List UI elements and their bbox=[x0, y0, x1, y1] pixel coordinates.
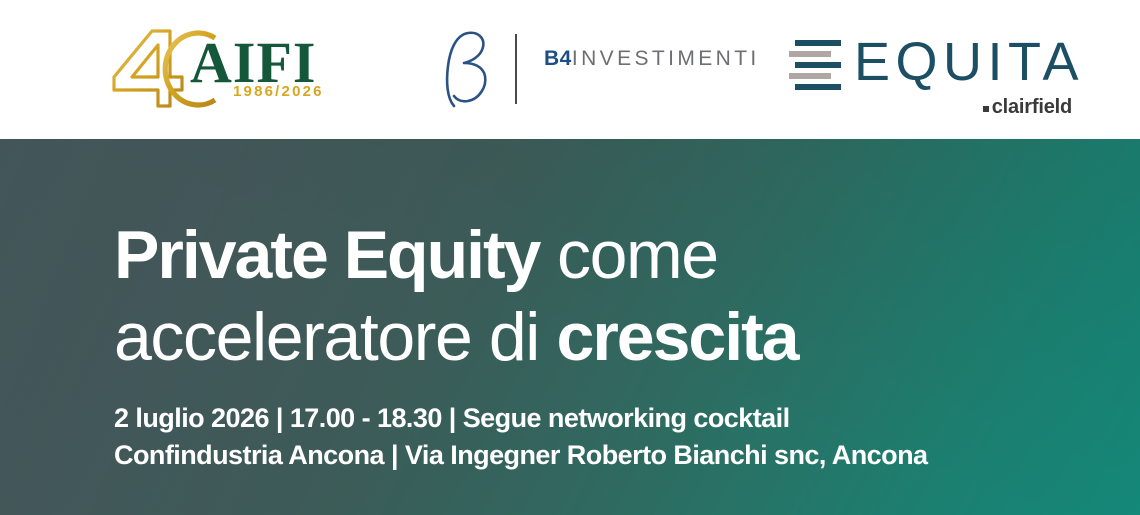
clairfield-dot-icon bbox=[983, 106, 989, 112]
b4-investimenti-text: INVESTIMENTI bbox=[572, 47, 760, 70]
partner-logo-band: AIFI 1986/2026 B4INVESTIMENTI EQUITA cl bbox=[0, 0, 1140, 139]
event-details: 2 luglio 2026 | 17.00 - 18.30 | Segue ne… bbox=[114, 400, 1100, 474]
aifi-logo: AIFI 1986/2026 bbox=[112, 24, 342, 116]
event-title: Private Equity come acceleratore di cres… bbox=[114, 214, 1100, 378]
b4-prefix: B4 bbox=[544, 47, 572, 70]
clairfield-subbrand: clairfield bbox=[983, 96, 1072, 118]
event-title-line-1: Private Equity come bbox=[114, 214, 1100, 296]
hero-content: Private Equity come acceleratore di cres… bbox=[114, 214, 1100, 474]
event-title-regular-1: come bbox=[540, 217, 718, 293]
b4-logo-divider bbox=[515, 34, 517, 104]
equita-wordmark: EQUITA bbox=[854, 34, 1084, 90]
b4-investimenti-logo: B4INVESTIMENTI bbox=[440, 30, 730, 110]
clairfield-label: clairfield bbox=[992, 96, 1072, 118]
b4-beta-icon bbox=[440, 30, 498, 108]
event-title-line-2: acceleratore di crescita bbox=[114, 296, 1100, 378]
aifi-anniversary-years: 1986/2026 bbox=[233, 83, 324, 100]
equita-clairfield-logo: EQUITA clairfield bbox=[789, 34, 1074, 118]
event-title-emphasis-1: Private Equity bbox=[114, 217, 540, 293]
hero-gradient-panel: Private Equity come acceleratore di cres… bbox=[0, 139, 1140, 515]
equita-bars-icon bbox=[789, 40, 841, 90]
event-title-emphasis-2: crescita bbox=[557, 299, 798, 375]
b4-wordmark: B4INVESTIMENTI bbox=[544, 47, 760, 71]
event-venue-line: Confindustria Ancona | Via Ingegner Robe… bbox=[114, 437, 1100, 474]
event-datetime-line: 2 luglio 2026 | 17.00 - 18.30 | Segue ne… bbox=[114, 400, 1100, 437]
event-banner: AIFI 1986/2026 B4INVESTIMENTI EQUITA cl bbox=[0, 0, 1140, 515]
event-title-regular-2: acceleratore di bbox=[114, 299, 557, 375]
